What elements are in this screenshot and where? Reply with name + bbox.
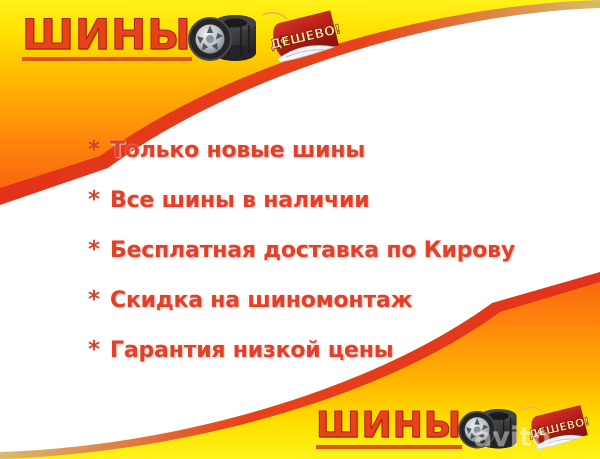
footer-logo: ШИНЫ — [316, 400, 600, 456]
list-item: * Скидка на шиномонтаж — [88, 288, 568, 338]
offer-text: Только новые шины — [110, 138, 365, 163]
offer-list: * Только новые шины * Все шины в наличии… — [88, 138, 568, 388]
bullet-star-icon: * — [88, 239, 110, 262]
offer-text: Все шины в наличии — [110, 188, 369, 213]
offer-text: Бесплатная доставка по Кирову — [110, 238, 515, 263]
tire-stack-icon — [458, 404, 522, 452]
price-tag-icon: ДЕШЕВО! — [260, 9, 346, 65]
offer-text: Гарантия низкой цены — [110, 338, 393, 363]
header-logo-text: ШИНЫ — [22, 14, 192, 61]
list-item: * Гарантия низкой цены — [88, 338, 568, 388]
header-logo: ШИНЫ — [22, 6, 322, 68]
list-item: * Бесплатная доставка по Кирову — [88, 238, 568, 288]
bullet-star-icon: * — [88, 189, 110, 212]
bullet-star-icon: * — [88, 289, 110, 312]
list-item: * Все шины в наличии — [88, 188, 568, 238]
bullet-star-icon: * — [88, 139, 110, 162]
footer-logo-text: ШИНЫ — [316, 408, 462, 449]
bullet-star-icon: * — [88, 339, 110, 362]
offer-text: Скидка на шиномонтаж — [110, 288, 412, 313]
tire-stack-icon — [188, 9, 262, 65]
price-tag-icon: ДЕШЕВО! — [520, 404, 594, 452]
tire-advertisement-banner: ШИНЫ — [0, 0, 600, 459]
list-item: * Только новые шины — [88, 138, 568, 188]
